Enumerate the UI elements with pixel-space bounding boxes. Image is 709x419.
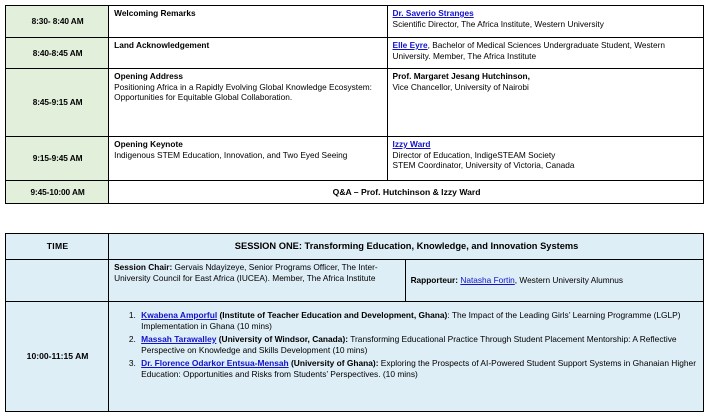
topic-cell: Opening Keynote Indigenous STEM Educatio… [109, 137, 387, 181]
person-cell: Elle Eyre, Bachelor of Medical Sciences … [387, 38, 703, 69]
session-chair-label: Session Chair: [114, 262, 172, 272]
speaker-link[interactable]: Dr. Saverio Stranges [393, 8, 474, 18]
speaker-link[interactable]: Elle Eyre [393, 40, 428, 50]
talk-institution: (University of Ghana): [289, 358, 379, 368]
topic-title: Opening Address [114, 71, 382, 82]
opening-session-table: 8:30- 8:40 AM Welcoming Remarks Dr. Save… [5, 5, 704, 204]
talks-cell: Kwabena Amporful (Institute of Teacher E… [109, 302, 704, 412]
topic-title: Opening Keynote [114, 139, 382, 150]
session-chair-cell: Session Chair: Gervais Ndayizeye, Senior… [109, 260, 405, 302]
table-row: 8:45-9:15 AM Opening Address Positioning… [6, 69, 704, 137]
chair-rapporteur-row: Session Chair: Gervais Ndayizeye, Senior… [6, 260, 704, 302]
speaker-affiliation: Scientific Director, The Africa Institut… [393, 19, 699, 30]
speaker-affiliation-1: Director of Education, IndigeSTEAM Socie… [393, 150, 699, 161]
topic-title: Welcoming Remarks [114, 8, 195, 18]
person-cell: Prof. Margaret Jesang Hutchinson, Vice C… [387, 69, 703, 137]
table-row: 8:30- 8:40 AM Welcoming Remarks Dr. Save… [6, 6, 704, 38]
list-item: Massah Tarawalley (University of Windsor… [138, 334, 699, 357]
time-column-header: TIME [6, 234, 109, 260]
agenda-page: 8:30- 8:40 AM Welcoming Remarks Dr. Save… [0, 0, 709, 419]
rapporteur-cell: Rapporteur: Natasha Fortin, Western Univ… [405, 260, 703, 302]
talks-row: 10:00-11:15 AM Kwabena Amporful (Institu… [6, 302, 704, 412]
session-one-table: TIME SESSION ONE: Transforming Education… [5, 233, 704, 412]
topic-subtitle: Positioning Africa in a Rapidly Evolving… [114, 82, 372, 103]
topic-cell: Land Acknowledgement [109, 38, 387, 69]
table-row: 9:15-9:45 AM Opening Keynote Indigenous … [6, 137, 704, 181]
list-item: Dr. Florence Odarkor Entsua-Mensah (Univ… [138, 358, 699, 381]
qa-text: Q&A – Prof. Hutchinson & Izzy Ward [109, 181, 704, 204]
person-cell: Izzy Ward Director of Education, IndigeS… [387, 137, 703, 181]
speaker-affiliation: , Bachelor of Medical Sciences Undergrad… [393, 40, 665, 61]
speaker-link[interactable]: Izzy Ward [393, 139, 699, 150]
person-cell: Dr. Saverio Stranges Scientific Director… [387, 6, 703, 38]
time-cell: 8:45-9:15 AM [6, 69, 109, 137]
table-row-qa: 9:45-10:00 AM Q&A – Prof. Hutchinson & I… [6, 181, 704, 204]
session-title: SESSION ONE: Transforming Education, Kno… [109, 234, 704, 260]
topic-subtitle: Indigenous STEM Education, Innovation, a… [114, 150, 347, 160]
session-header-row: TIME SESSION ONE: Transforming Education… [6, 234, 704, 260]
speaker-affiliation: Vice Chancellor, University of Nairobi [393, 82, 699, 93]
list-item: Kwabena Amporful (Institute of Teacher E… [138, 310, 699, 333]
rapporteur-affiliation: , Western University Alumnus [515, 275, 623, 285]
topic-title: Land Acknowledgement [114, 40, 209, 50]
talk-speaker-link[interactable]: Massah Tarawalley [141, 334, 216, 344]
talks-list: Kwabena Amporful (Institute of Teacher E… [114, 310, 699, 381]
time-cell: 10:00-11:15 AM [6, 302, 109, 412]
time-cell: 9:45-10:00 AM [6, 181, 109, 204]
time-cell: 9:15-9:45 AM [6, 137, 109, 181]
time-cell: 8:30- 8:40 AM [6, 6, 109, 38]
talk-institution: (University of Windsor, Canada): [216, 334, 348, 344]
rapporteur-link[interactable]: Natasha Fortin [460, 275, 514, 285]
talk-speaker-link[interactable]: Kwabena Amporful [141, 310, 217, 320]
time-cell: 8:40-8:45 AM [6, 38, 109, 69]
speaker-affiliation-2: STEM Coordinator, University of Victoria… [393, 160, 699, 171]
topic-cell: Opening Address Positioning Africa in a … [109, 69, 387, 137]
talk-speaker-link[interactable]: Dr. Florence Odarkor Entsua-Mensah [141, 358, 289, 368]
table-row: 8:40-8:45 AM Land Acknowledgement Elle E… [6, 38, 704, 69]
rapporteur-label: Rapporteur: [411, 275, 458, 285]
topic-cell: Welcoming Remarks [109, 6, 387, 38]
speaker-name: Prof. Margaret Jesang Hutchinson, [393, 71, 699, 82]
talk-institution: (Institute of Teacher Education and Deve… [217, 310, 447, 320]
time-cell-empty [6, 260, 109, 302]
